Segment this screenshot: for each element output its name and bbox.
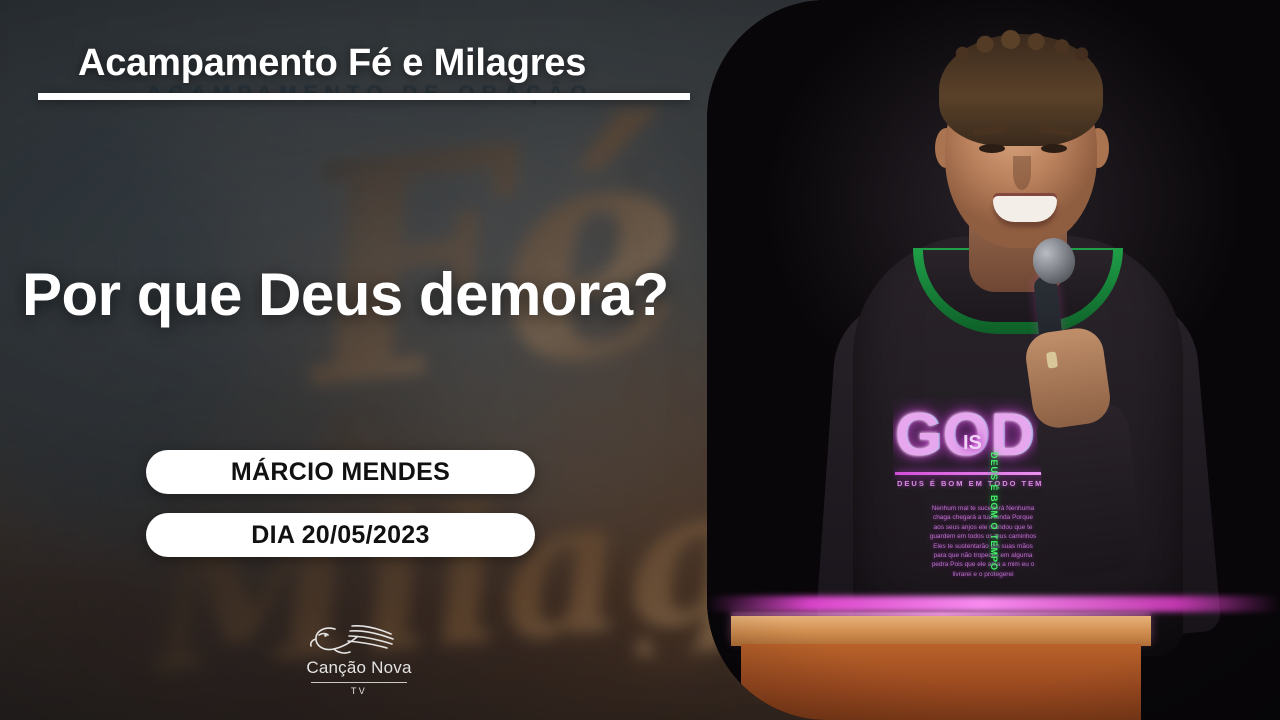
title-underline-rule bbox=[38, 93, 690, 100]
page-title: Por que Deus demora? bbox=[22, 260, 722, 329]
logo-sub: TV bbox=[351, 686, 367, 696]
logo-divider bbox=[311, 682, 407, 683]
thumbnail-stage: Fé & Milagres ACAMPAMENTO DE ORAÇÃO GOD … bbox=[0, 0, 1280, 720]
speaker-name-label: MÁRCIO MENDES bbox=[231, 458, 450, 487]
photo-vignette bbox=[707, 0, 1280, 720]
dove-icon bbox=[305, 622, 413, 656]
event-date-label: DIA 20/05/2023 bbox=[251, 521, 429, 550]
speaker-photo-panel: GOD IS DEUS É BOM EM TODO TEMPO Nenhum m… bbox=[707, 0, 1280, 720]
event-date-badge: DIA 20/05/2023 bbox=[146, 513, 535, 557]
event-title: Acampamento Fé e Milagres bbox=[78, 42, 586, 85]
speaker-name-badge: MÁRCIO MENDES bbox=[146, 450, 535, 494]
cancao-nova-logo: Canção Nova TV bbox=[283, 622, 435, 696]
logo-name: Canção Nova bbox=[306, 658, 411, 678]
